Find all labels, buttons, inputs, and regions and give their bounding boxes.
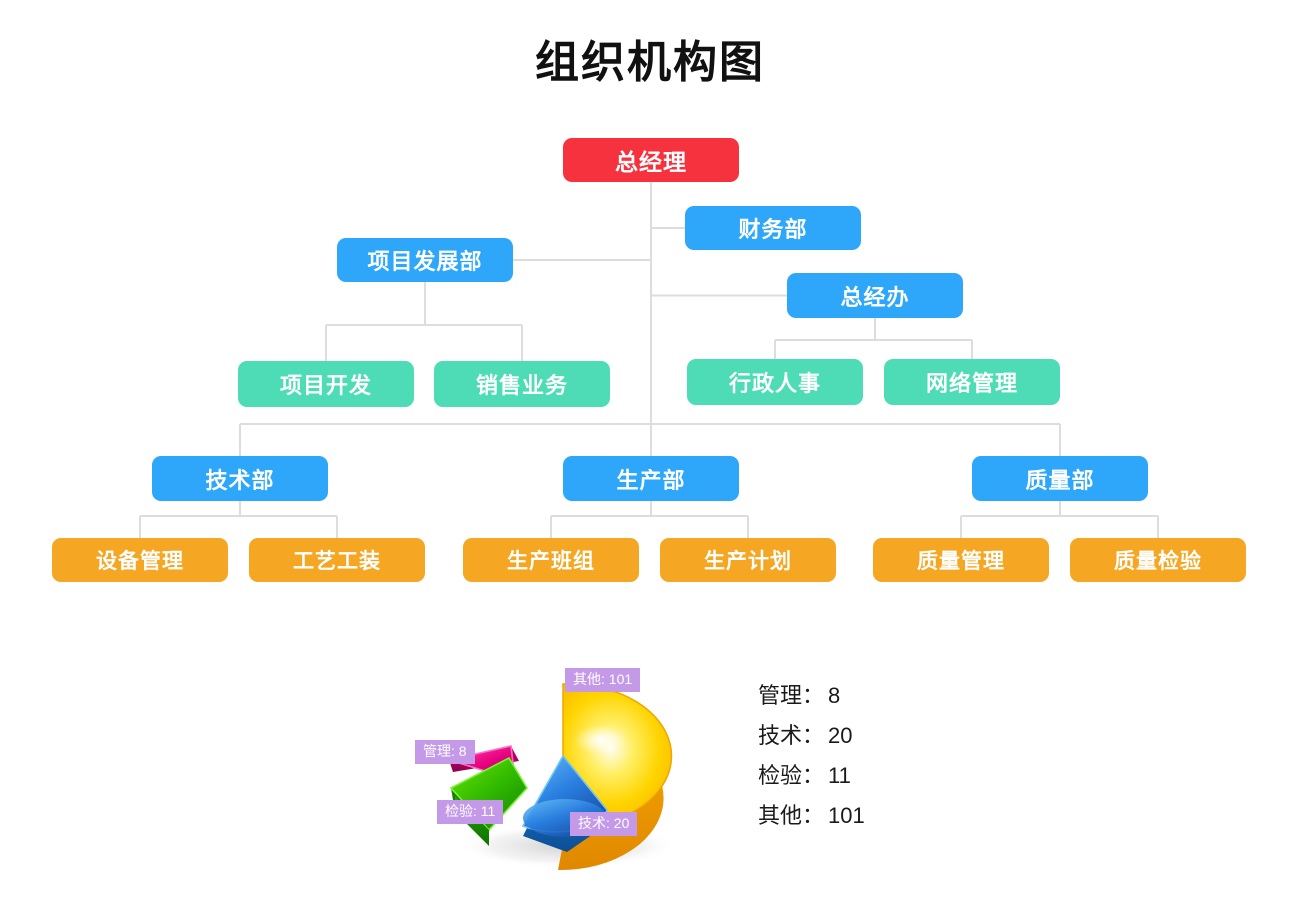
org-node-qinspect[interactable]: 质量检验 [1070, 538, 1246, 582]
legend-row-检验: 检验：11 [758, 756, 1018, 796]
pie-slice-label-检验: 检验: 11 [437, 800, 503, 824]
org-node-gm[interactable]: 总经理 [563, 138, 739, 182]
legend-separator: ： [802, 763, 824, 788]
org-node-label: 行政人事 [729, 366, 821, 398]
legend-name: 检验 [758, 763, 802, 788]
org-node-process[interactable]: 工艺工装 [249, 538, 425, 582]
legend-name: 技术 [758, 723, 802, 748]
org-chart-connectors [0, 0, 1300, 620]
legend-value: 8 [824, 683, 840, 708]
org-node-qmgmt[interactable]: 质量管理 [873, 538, 1049, 582]
org-node-label: 技术部 [205, 463, 274, 495]
org-node-prod[interactable]: 生产部 [563, 456, 739, 501]
legend-row-其他: 其他：101 [758, 796, 1018, 836]
org-node-label: 项目发展部 [367, 244, 482, 276]
org-node-projdev[interactable]: 项目发展部 [337, 238, 513, 282]
legend-separator: ： [802, 683, 824, 708]
org-node-prodteam[interactable]: 生产班组 [463, 538, 639, 582]
org-node-label: 销售业务 [476, 368, 568, 400]
pie-slice-label-其他: 其他: 101 [565, 668, 640, 692]
org-node-finance[interactable]: 财务部 [685, 206, 861, 250]
org-node-label: 设备管理 [96, 545, 184, 575]
org-node-label: 生产计划 [704, 545, 792, 575]
pie-chart-graphic [415, 660, 715, 875]
org-node-label: 工艺工装 [293, 545, 381, 575]
legend-value: 101 [824, 803, 865, 828]
legend-row-管理: 管理：8 [758, 676, 1018, 716]
org-node-sales[interactable]: 销售业务 [434, 361, 610, 407]
stats-legend: 管理：8技术：20检验：11其他：101 [758, 676, 1018, 836]
pie-slice-label-技术: 技术: 20 [570, 812, 637, 836]
org-node-label: 生产部 [616, 463, 685, 495]
org-node-label: 网络管理 [926, 366, 1018, 398]
legend-separator: ： [802, 803, 824, 828]
org-node-prodplan[interactable]: 生产计划 [660, 538, 836, 582]
org-node-equip[interactable]: 设备管理 [52, 538, 228, 582]
legend-separator: ： [802, 723, 824, 748]
legend-name: 其他 [758, 803, 802, 828]
org-node-hr[interactable]: 行政人事 [687, 359, 863, 405]
org-node-quality[interactable]: 质量部 [972, 456, 1148, 501]
org-node-tech[interactable]: 技术部 [152, 456, 328, 501]
org-node-label: 总经办 [840, 280, 909, 312]
org-node-network[interactable]: 网络管理 [884, 359, 1060, 405]
org-node-label: 生产班组 [507, 545, 595, 575]
org-node-label: 财务部 [738, 212, 807, 244]
org-node-gmoffice[interactable]: 总经办 [787, 273, 963, 318]
org-chart-page: 组织机构图 总经理财务部项目发展部总经办项目开发销售业务行政人事网络管理技术部生… [0, 0, 1300, 900]
legend-value: 11 [824, 763, 851, 788]
legend-row-技术: 技术：20 [758, 716, 1018, 756]
legend-value: 20 [824, 723, 852, 748]
pie-slice-label-管理: 管理: 8 [415, 740, 475, 764]
org-node-label: 项目开发 [280, 368, 372, 400]
org-node-label: 总经理 [615, 143, 687, 177]
legend-name: 管理 [758, 683, 802, 708]
org-node-label: 质量检验 [1114, 545, 1202, 575]
org-node-label: 质量管理 [917, 545, 1005, 575]
org-node-projdevel[interactable]: 项目开发 [238, 361, 414, 407]
org-node-label: 质量部 [1025, 463, 1094, 495]
pie-chart: 其他: 101管理: 8检验: 11技术: 20 [415, 660, 715, 875]
